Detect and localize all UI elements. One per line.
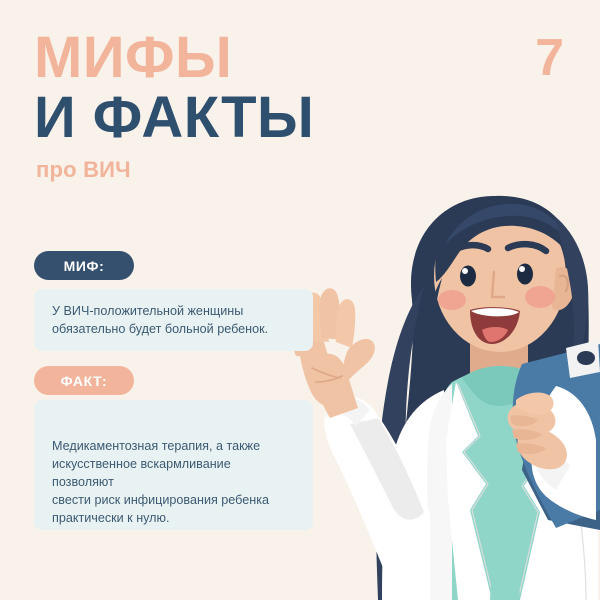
page-subtitle: про ВИЧ (36, 157, 434, 183)
fact-textbox: Медикаментозная терапия, а также искусст… (34, 400, 313, 530)
page-title-line1: МИФЫ (34, 30, 434, 86)
fact-badge: ФАКТ: (34, 366, 134, 395)
fact-text: Медикаментозная терапия, а также искусст… (52, 438, 295, 527)
page-title-line2: И ФАКТЫ (34, 90, 434, 146)
fact-badge-label: ФАКТ: (61, 373, 108, 389)
infographic-poster: МИФЫ И ФАКТЫ про ВИЧ 7 МИФ: У ВИЧ-положи… (0, 0, 600, 600)
myth-textbox: У ВИЧ-положительной женщины обязательно … (34, 289, 313, 351)
myth-text: У ВИЧ-положительной женщины обязательно … (52, 303, 295, 339)
myth-badge-label: МИФ: (64, 258, 105, 274)
myth-badge: МИФ: (34, 251, 134, 280)
title-block: МИФЫ И ФАКТЫ про ВИЧ (34, 30, 434, 183)
page-number: 7 (535, 32, 564, 84)
content-layer: МИФЫ И ФАКТЫ про ВИЧ 7 МИФ: У ВИЧ-положи… (0, 0, 600, 600)
